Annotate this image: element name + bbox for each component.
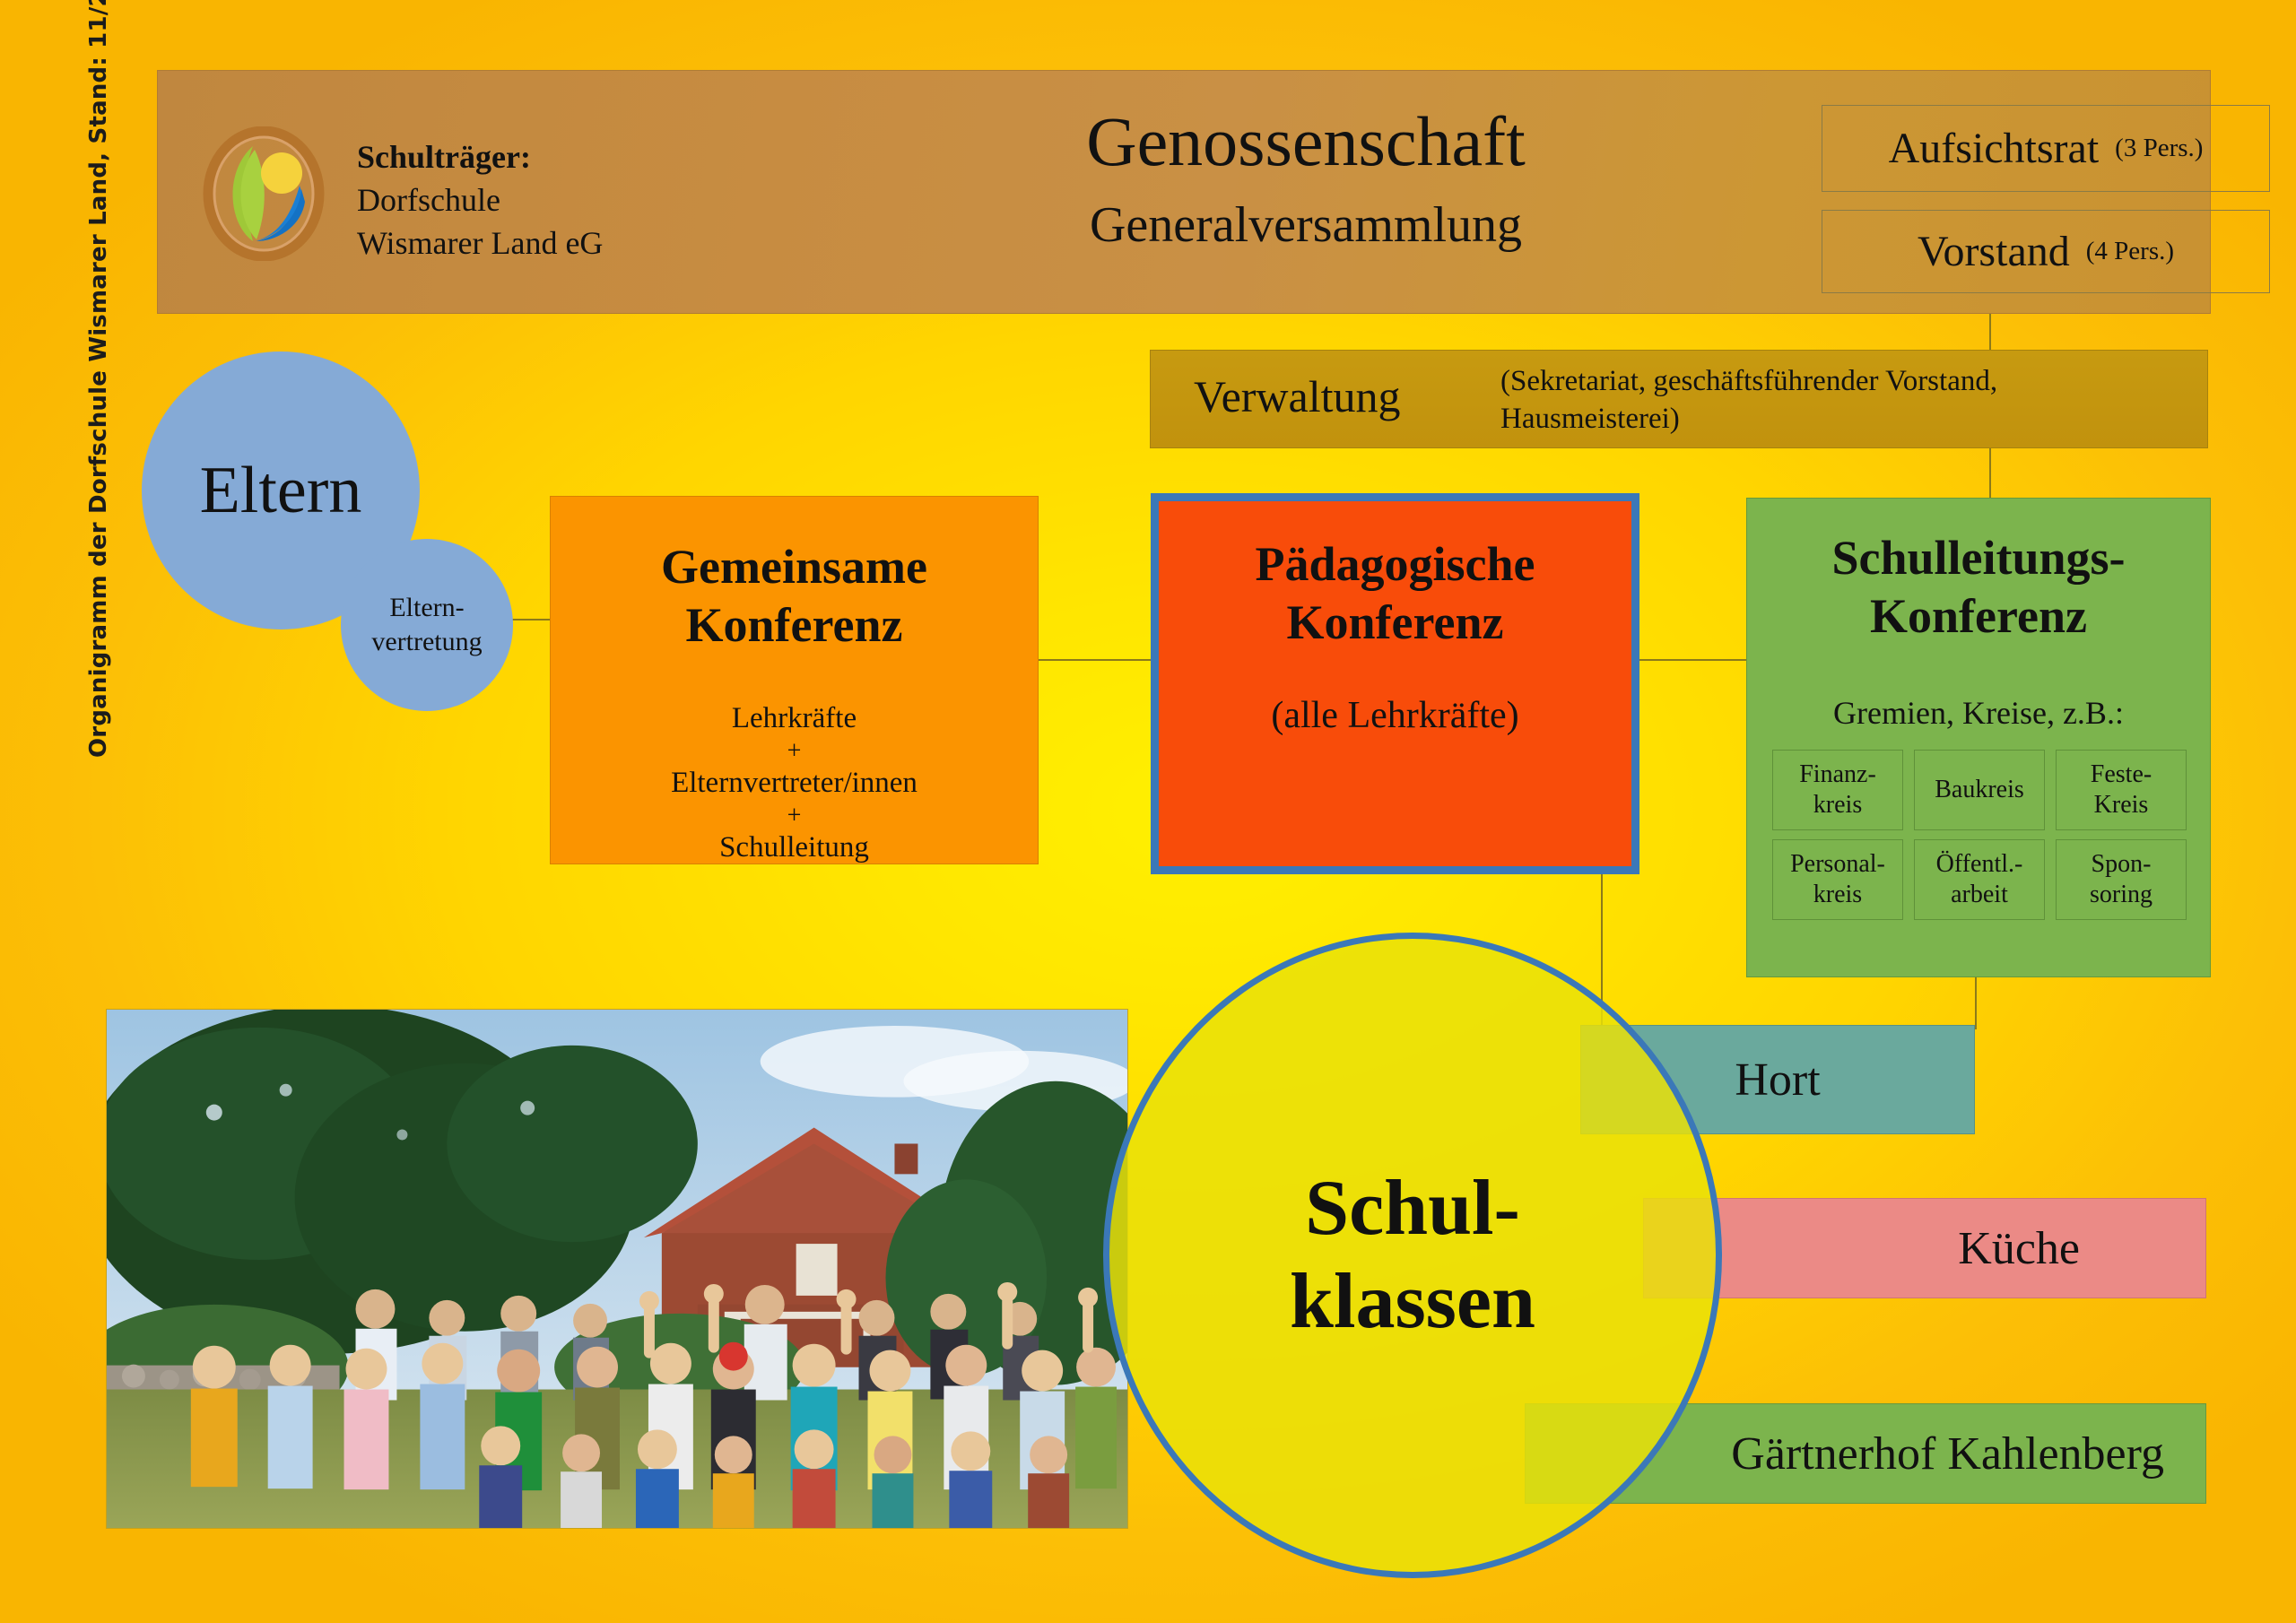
gremium-personalkreis[interactable]: Personal- kreis [1772, 839, 1903, 920]
connector-verwaltung-schulleitung [1989, 447, 1991, 499]
schulklassen-line2: klassen [1290, 1258, 1535, 1345]
verwaltung-note-line2: Hausmeisterei) [1500, 401, 1997, 438]
member-plus: + [551, 801, 1038, 830]
connector-gemeinsame-paedagogische [1038, 659, 1152, 661]
schulleitung-title-line1: Schulleitungs- [1747, 529, 2210, 587]
gremium-line1: Öffentl.- [1936, 850, 2023, 878]
gremien-grid: Finanz- kreis Baukreis Feste- Kreis Pers… [1772, 750, 2187, 920]
schulleitung-title-line2: Konferenz [1747, 587, 2210, 646]
gremium-line2: soring [2090, 881, 2152, 908]
genossenschaft-title: Genossenschaft [902, 105, 1709, 179]
verwaltung-note: (Sekretariat, geschäftsführender Vorstan… [1500, 363, 1997, 438]
schultraeger-block: Schulträger: Dorfschule Wismarer Land eG [357, 135, 603, 265]
hort-label: Hort [1735, 1054, 1820, 1107]
gemeinsame-konferenz-members: Lehrkräfte + Elternvertreter/innen + Sch… [551, 701, 1038, 865]
gremien-label: Gremien, Kreise, z.B.: [1747, 694, 2210, 732]
gemeinsame-title-line1: Gemeinsame [551, 538, 1038, 596]
vorstand-box[interactable]: Vorstand (4 Pers.) [1822, 210, 2270, 293]
paedagogische-konferenz-title: Pädagogische Konferenz [1159, 535, 1631, 652]
connector-schulleitung-services [1975, 976, 1977, 1029]
elternvertretung-line2: vertretung [371, 627, 482, 656]
kueche-box[interactable]: Küche [1643, 1198, 2206, 1298]
generalversammlung-subtitle: Generalversammlung [902, 196, 1709, 254]
elternvertretung-circle[interactable]: Eltern- vertretung [341, 539, 513, 711]
gremium-oeffentlichkeitsarbeit[interactable]: Öffentl.- arbeit [1914, 839, 2045, 920]
vorstand-label: Vorstand [1918, 227, 2070, 276]
gremium-line2: kreis [1813, 881, 1862, 908]
kueche-label: Küche [1958, 1222, 2080, 1275]
schulleitungs-konferenz-title: Schulleitungs- Konferenz [1747, 529, 2210, 646]
paed-title-line2: Konferenz [1159, 594, 1631, 652]
eltern-label: Eltern [200, 453, 362, 529]
schulklassen-line1: Schul- [1305, 1165, 1520, 1252]
gaertnerhof-label: Gärtnerhof Kahlenberg [1731, 1428, 2164, 1480]
paedagogische-konferenz-box[interactable]: Pädagogische Konferenz (alle Lehrkräfte) [1151, 493, 1639, 874]
schulleitungs-konferenz-box[interactable]: Schulleitungs- Konferenz Gremien, Kreise… [1746, 498, 2211, 977]
leaf-sun-wave-logo-icon [201, 126, 326, 261]
aufsichtsrat-box[interactable]: Aufsichtsrat (3 Pers.) [1822, 105, 2270, 192]
member-line: Elternvertreter/innen [551, 766, 1038, 801]
organigramm-canvas: Organigramm der Dorfschule Wismarer Land… [0, 0, 2296, 1623]
verwaltung-label: Verwaltung [1194, 370, 1401, 422]
gremium-sponsoring[interactable]: Spon- soring [2056, 839, 2187, 920]
gremium-line2: Kreis [2094, 791, 2149, 819]
gemeinsame-konferenz-box[interactable]: Gemeinsame Konferenz Lehrkräfte + Eltern… [550, 496, 1039, 864]
connector-paedagogische-schulleitung [1639, 659, 1748, 661]
verwaltung-box[interactable]: Verwaltung (Sekretariat, geschäftsführen… [1150, 350, 2208, 448]
verwaltung-note-line1: (Sekretariat, geschäftsführender Vorstan… [1500, 363, 1997, 401]
gremium-line2: arbeit [1951, 881, 2008, 908]
gremium-line1: Baukreis [1935, 776, 2024, 803]
paedagogische-konferenz-note: (alle Lehrkräfte) [1159, 694, 1631, 737]
genossenschaft-header: Schulträger: Dorfschule Wismarer Land eG… [157, 70, 2211, 314]
side-caption: Organigramm der Dorfschule Wismarer Land… [85, 22, 112, 758]
member-line: Schulleitung [551, 830, 1038, 865]
member-line: Lehrkräfte [551, 701, 1038, 736]
schulklassen-circle[interactable]: Schul- klassen [1103, 933, 1722, 1578]
gremium-festekreis[interactable]: Feste- Kreis [2056, 750, 2187, 830]
gemeinsame-konferenz-title: Gemeinsame Konferenz [551, 538, 1038, 655]
aufsichtsrat-count: (3 Pers.) [2115, 134, 2203, 163]
gremium-finanzkreis[interactable]: Finanz- kreis [1772, 750, 1903, 830]
paed-title-line1: Pädagogische [1159, 535, 1631, 594]
gremium-line1: Feste- [2091, 760, 2152, 788]
schultraeger-line2: Dorfschule [357, 178, 603, 221]
gemeinsame-title-line2: Konferenz [551, 596, 1038, 655]
vorstand-count: (4 Pers.) [2086, 237, 2174, 266]
gremium-line1: Finanz- [1799, 760, 1876, 788]
gremium-line2: kreis [1813, 791, 1862, 819]
connector-vorstand-verwaltung [1989, 312, 1991, 352]
schultraeger-label: Schulträger: [357, 139, 531, 175]
gremium-line1: Spon- [2092, 850, 2152, 878]
elternvertretung-line1: Eltern- [389, 593, 464, 622]
member-plus: + [551, 736, 1038, 766]
schultraeger-line3: Wismarer Land eG [357, 221, 603, 265]
school-group-photo [106, 1009, 1128, 1529]
gremium-line1: Personal- [1790, 850, 1885, 878]
aufsichtsrat-label: Aufsichtsrat [1889, 124, 2100, 173]
gremium-baukreis[interactable]: Baukreis [1914, 750, 2045, 830]
